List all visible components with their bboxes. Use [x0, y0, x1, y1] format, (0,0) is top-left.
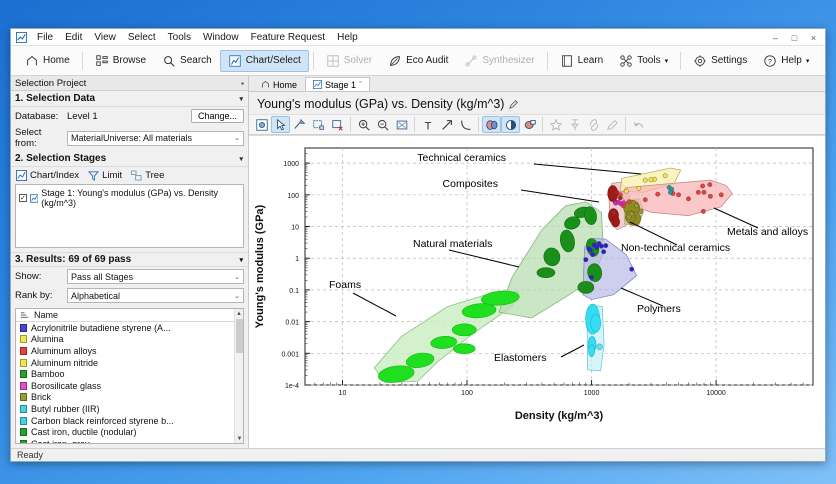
annotation-label: Natural materials — [413, 238, 492, 250]
pointer-icon — [274, 118, 288, 132]
annotation-label: Technical ceramics — [417, 152, 506, 164]
chart-select-icon — [228, 54, 242, 68]
list-item-label: Aluminum nitride — [31, 358, 98, 368]
list-item[interactable]: Aluminum alloys — [16, 345, 243, 357]
data-point-composites[interactable] — [611, 210, 615, 214]
menu-item-help[interactable]: Help — [331, 31, 364, 44]
ribbon-search-label: Search — [180, 55, 212, 66]
data-point-polymers[interactable] — [587, 246, 591, 250]
show-value: Pass all Stages — [71, 272, 133, 282]
box-select-button[interactable] — [309, 116, 328, 133]
ribbon-browse-label: Browse — [113, 55, 146, 66]
elastomer-data-blob[interactable] — [591, 314, 601, 332]
natural-data-blob[interactable] — [578, 281, 594, 293]
menu-item-select[interactable]: Select — [122, 31, 162, 44]
chart-index-button[interactable]: Chart/Index — [16, 170, 79, 181]
chart-toolbar-divider-4 — [542, 117, 543, 132]
list-item-label: Brick — [31, 392, 51, 402]
select-from-dropdown[interactable]: MaterialUniverse: All materials ⌄ — [67, 131, 244, 146]
section3-label: 3. Results: 69 of 69 pass — [15, 254, 131, 265]
data-point-non-technical-ceramics[interactable] — [627, 215, 631, 219]
line-select-icon — [293, 118, 307, 132]
rank-dropdown[interactable]: Alphabetical ⌄ — [67, 288, 244, 303]
box-select-icon — [312, 118, 326, 132]
svg-text:T: T — [424, 120, 431, 132]
help-icon: ? — [763, 54, 777, 68]
data-point-polymers[interactable] — [590, 252, 594, 256]
menu-item-edit[interactable]: Edit — [59, 31, 88, 44]
rank-label: Rank by: — [15, 290, 63, 301]
zoom-out-icon — [376, 118, 390, 132]
data-point-metals-and-alloys[interactable] — [656, 192, 660, 196]
undo-icon — [632, 118, 646, 132]
data-point-polymers[interactable] — [629, 267, 633, 271]
data-point-metals-and-alloys[interactable] — [708, 194, 712, 198]
ribbon-synthesizer-label: Synthesizer — [482, 55, 534, 66]
chart-toolbar-divider-3 — [478, 117, 479, 132]
ribbon-learn-label: Learn — [578, 55, 604, 66]
data-point-metals-and-alloys[interactable] — [702, 190, 706, 194]
list-item[interactable]: Carbon black reinforced styrene b... — [16, 415, 243, 427]
y-tick-label: 0.1 — [289, 288, 299, 295]
stage-list-item[interactable]: ✓ Stage 1: Young's modulus (GPa) vs. Den… — [19, 188, 240, 208]
chevron-down-icon-rank: ⌄ — [234, 292, 240, 300]
edit-pencil-button[interactable] — [603, 116, 622, 133]
undo-button[interactable] — [629, 116, 648, 133]
data-point-titanium[interactable] — [668, 190, 672, 194]
x-axis-label: Density (kg/m^3) — [515, 410, 604, 422]
text-tool-button[interactable]: T — [418, 116, 437, 133]
data-point-polymers[interactable] — [599, 244, 603, 248]
material-color-swatch — [20, 382, 27, 390]
list-item[interactable]: Acrylonitrile butadiene styrene (A... — [16, 322, 243, 334]
database-row: Database: Level 1 Change... — [11, 107, 248, 125]
synthesizer-icon — [464, 54, 478, 68]
chart-index-label: Chart/Index — [30, 170, 79, 181]
x-tick-label: 100 — [461, 390, 473, 397]
contrast-button[interactable] — [501, 116, 520, 133]
main-body: Selection Project ▪ 1. Selection Data ▾ … — [11, 76, 825, 448]
menu-item-window[interactable]: Window — [197, 31, 245, 44]
list-item[interactable]: Bamboo — [16, 368, 243, 380]
data-point-technical-ceramics[interactable] — [643, 178, 647, 182]
ribbon-solver-label: Solver — [344, 55, 372, 66]
results-list-header: Name — [16, 309, 243, 322]
results-list[interactable]: Name Acrylonitrile butadiene styrene (A.… — [15, 308, 244, 444]
change-database-button[interactable]: Change... — [191, 109, 244, 123]
zoom-in-button[interactable] — [354, 116, 373, 133]
curve-tool-icon — [459, 118, 473, 132]
limit-label: Limit — [102, 170, 122, 181]
show-row: Show: Pass all Stages ⌄ — [11, 267, 248, 286]
show-dropdown[interactable]: Pass all Stages ⌄ — [67, 269, 244, 284]
annotation-label: Metals and alloys — [727, 226, 808, 238]
chart-title-text: Young's modulus (GPa) vs. Density (kg/m^… — [257, 97, 504, 111]
data-point-metals-and-alloys[interactable] — [627, 200, 631, 204]
gear-icon — [693, 54, 707, 68]
ribbon-eco-audit-button[interactable]: Eco Audit — [380, 50, 456, 72]
ribbon-divider-2 — [313, 52, 314, 70]
tree-icon — [131, 170, 142, 181]
stage-list: ✓ Stage 1: Young's modulus (GPa) vs. Den… — [15, 184, 244, 248]
ribbon-chart-select-label: Chart/Select — [246, 55, 301, 66]
x-tick-label: 10 — [339, 390, 347, 397]
arrow-tool-button[interactable] — [437, 116, 456, 133]
tab-stage-1-label: Stage 1 — [325, 80, 356, 90]
list-item-label: Acrylonitrile butadiene styrene (A... — [31, 323, 171, 333]
star-button[interactable] — [546, 116, 565, 133]
data-point-polymers[interactable] — [589, 275, 593, 279]
ribbon-home-label: Home — [43, 55, 70, 66]
annotation-label: Elastomers — [494, 352, 547, 364]
chart-props-icon — [255, 118, 269, 132]
ribbon-settings-button[interactable]: Settings — [685, 50, 755, 72]
select-from-label: Select from: — [15, 127, 63, 149]
ribbon-help-button[interactable]: ? Help ▾ — [755, 50, 817, 72]
data-point-non-technical-ceramics[interactable] — [634, 204, 638, 208]
elastomer-data-point[interactable] — [597, 344, 603, 350]
list-item[interactable]: Borosilicate glass — [16, 380, 243, 392]
y-tick-label: 100 — [287, 193, 299, 200]
menu-item-view[interactable]: View — [88, 31, 122, 44]
annotation-label: Foams — [329, 279, 361, 291]
data-point-metals-and-alloys[interactable] — [676, 193, 680, 197]
ribbon-divider-3 — [547, 52, 548, 70]
family-envelope-icon — [485, 118, 499, 132]
tab-home[interactable]: Home — [253, 77, 305, 91]
select-from-value: MaterialUniverse: All materials — [71, 133, 192, 143]
y-tick-label: 1000 — [283, 161, 299, 168]
pin-icon[interactable]: ▪ — [241, 79, 244, 88]
list-item-label: Borosilicate glass — [31, 381, 101, 391]
tab-stage-1-suffix: ° — [359, 81, 362, 88]
home-icon — [25, 54, 39, 68]
material-color-swatch — [20, 359, 27, 367]
tree-button[interactable]: Tree — [131, 170, 164, 181]
list-item[interactable]: Cast iron, ductile (nodular) — [16, 426, 243, 438]
annotation-label: Composites — [443, 178, 498, 190]
results-scrollbar[interactable]: ▲ ▼ — [234, 309, 243, 443]
star-icon — [549, 118, 563, 132]
menu-item-tools[interactable]: Tools — [162, 31, 197, 44]
data-point-polymers[interactable] — [595, 245, 599, 249]
ribbon-search-button[interactable]: Search — [154, 50, 220, 72]
results-column-name: Name — [34, 310, 58, 320]
list-item[interactable]: Aluminum nitride — [16, 357, 243, 369]
section1-label: 1. Selection Data — [15, 93, 95, 104]
stage-label: Stage 1: Young's modulus (GPa) vs. Densi… — [41, 188, 240, 208]
section-results-header[interactable]: 3. Results: 69 of 69 pass ▾ — [11, 252, 248, 267]
link-icon — [587, 118, 601, 132]
select-from-row: Select from: MaterialUniverse: All mater… — [11, 125, 248, 151]
app-logo-icon — [15, 31, 28, 43]
chart-svg[interactable]: 10001001010.10.010.0011e-410100100010000… — [249, 136, 825, 429]
ribbon-solver-button[interactable]: Solver — [318, 50, 380, 72]
ribbon-tools-label: Tools — [637, 55, 660, 66]
list-item-label: Alumina — [31, 334, 64, 344]
browse-icon — [95, 54, 109, 68]
chart-toolbar-divider-5 — [625, 117, 626, 132]
material-color-swatch — [20, 428, 27, 436]
data-point-polymers[interactable] — [604, 243, 608, 247]
label-icon — [523, 118, 537, 132]
database-value: Level 1 — [67, 111, 187, 122]
section2-label: 2. Selection Stages — [15, 153, 106, 164]
line-select-button[interactable] — [290, 116, 309, 133]
list-item[interactable]: Cast iron, gray — [16, 438, 243, 444]
chart-index-icon — [16, 170, 27, 181]
chart-toolbar: T — [249, 114, 825, 135]
material-color-swatch — [20, 370, 27, 378]
list-item-label: Cast iron, gray — [31, 439, 90, 444]
home-tab-icon — [261, 80, 270, 89]
composite-data-blob[interactable] — [612, 217, 620, 227]
section-selection-data-header[interactable]: 1. Selection Data ▾ — [11, 91, 248, 107]
box-delete-icon — [331, 118, 345, 132]
selection-project-pane: Selection Project ▪ 1. Selection Data ▾ … — [11, 76, 249, 448]
chart-title: Young's modulus (GPa) vs. Density (kg/m^… — [249, 92, 825, 114]
ribbon-divider-1 — [82, 52, 83, 70]
data-point-metals-and-alloys[interactable] — [700, 184, 704, 188]
zoom-out-button[interactable] — [373, 116, 392, 133]
material-color-swatch — [20, 347, 27, 355]
annotation-label: Non-technical ceramics — [621, 242, 730, 254]
sort-icon — [20, 311, 29, 320]
label-button[interactable] — [520, 116, 539, 133]
data-point-technical-ceramics[interactable] — [624, 189, 628, 193]
edit-icon[interactable] — [509, 99, 519, 109]
tab-home-label: Home — [273, 80, 297, 90]
chart-icon — [30, 194, 38, 203]
pin-tool-button[interactable] — [565, 116, 584, 133]
data-point-non-technical-ceramics[interactable] — [639, 209, 643, 213]
chevron-down-icon-help[interactable]: ▾ — [806, 57, 810, 65]
zoom-fit-icon — [395, 118, 409, 132]
rank-row: Rank by: Alphabetical ⌄ — [11, 286, 248, 305]
tab-stage-1[interactable]: Stage 1 ° — [305, 77, 370, 91]
data-point-metals-and-alloys[interactable] — [701, 209, 705, 213]
list-item-label: Aluminum alloys — [31, 346, 97, 356]
data-point-polymers[interactable] — [584, 257, 588, 261]
material-color-swatch — [20, 335, 27, 343]
pane-title-bar: Selection Project ▪ — [11, 76, 248, 91]
ribbon-divider-4 — [680, 52, 681, 70]
ribbon-home-button[interactable]: Home — [17, 50, 78, 72]
material-color-swatch — [20, 417, 27, 425]
foam-data-blob[interactable] — [452, 324, 476, 336]
ribbon-learn-button[interactable]: Learn — [552, 50, 612, 72]
chevron-down-icon-s2[interactable]: ▾ — [239, 155, 243, 163]
chevron-down-icon-s3[interactable]: ▾ — [239, 256, 243, 264]
status-text: Ready — [17, 450, 43, 460]
ribbon-eco-audit-label: Eco Audit — [406, 55, 448, 66]
y-tick-label: 1 — [295, 256, 299, 263]
menu-bar: File Edit View Select Tools Window Featu… — [11, 29, 825, 46]
chart-toolbar-divider-1 — [350, 117, 351, 132]
chevron-down-icon-s1[interactable]: ▾ — [239, 95, 243, 103]
rank-value: Alphabetical — [71, 291, 120, 301]
pin-tool-icon — [568, 118, 582, 132]
tools-icon — [619, 54, 633, 68]
material-color-swatch — [20, 405, 27, 413]
x-tick-label: 1000 — [584, 390, 600, 397]
y-axis-label: Young's modulus (GPa) — [254, 204, 266, 328]
scroll-down-button[interactable]: ▼ — [235, 434, 244, 443]
book-icon — [560, 54, 574, 68]
foam-data-blob[interactable] — [453, 344, 475, 354]
svg-text:?: ? — [768, 58, 772, 65]
data-point-metals-and-alloys[interactable] — [719, 193, 723, 197]
data-point-polymers[interactable] — [601, 250, 605, 254]
menu-item-feature-request[interactable]: Feature Request — [245, 31, 332, 44]
tree-label: Tree — [145, 170, 164, 181]
list-item-label: Bamboo — [31, 369, 65, 379]
list-item-label: Cast iron, ductile (nodular) — [31, 427, 137, 437]
database-label: Database: — [15, 111, 63, 122]
solver-icon — [326, 54, 340, 68]
list-item[interactable]: Brick — [16, 392, 243, 404]
box-delete-button[interactable] — [328, 116, 347, 133]
data-point-technical-ceramics[interactable] — [663, 174, 667, 178]
natural-data-blob[interactable] — [537, 268, 555, 278]
desktop-background: File Edit View Select Tools Window Featu… — [0, 0, 836, 484]
zoom-in-icon — [357, 118, 371, 132]
arrow-tool-icon — [440, 118, 454, 132]
chart-pane: Home Stage 1 ° Young's modulus (GPa) vs.… — [249, 76, 825, 448]
y-tick-label: 10 — [291, 225, 299, 232]
annotation-label: Polymers — [637, 303, 681, 315]
tab-strip: Home Stage 1 ° — [249, 76, 825, 92]
list-item-label: Butyl rubber (IIR) — [31, 404, 100, 414]
scroll-thumb[interactable] — [236, 319, 243, 353]
ribbon-toolbar: Home Browse Search Chart/Select Solver — [11, 46, 825, 76]
ribbon-chart-select-button[interactable]: Chart/Select — [220, 50, 309, 72]
menu-item-file[interactable]: File — [31, 31, 59, 44]
show-label: Show: — [15, 271, 63, 282]
search-icon — [162, 54, 176, 68]
material-color-swatch — [20, 440, 27, 444]
chevron-down-icon-show: ⌄ — [234, 273, 240, 281]
stage-tools-bar: Chart/Index Limit Tree — [11, 167, 248, 184]
y-tick-label: 1e-4 — [285, 383, 299, 390]
zoom-fit-button[interactable] — [392, 116, 411, 133]
data-point-glass[interactable] — [621, 201, 625, 205]
material-color-swatch — [20, 324, 27, 332]
ribbon-browse-button[interactable]: Browse — [87, 50, 154, 72]
data-point-metals-and-alloys[interactable] — [696, 190, 700, 194]
elastomer-data-blob[interactable] — [589, 345, 595, 357]
ribbon-settings-label: Settings — [711, 55, 747, 66]
ribbon-tools-button[interactable]: Tools ▾ — [611, 50, 676, 72]
section-selection-stages-header[interactable]: 2. Selection Stages ▾ — [11, 151, 248, 167]
status-bar: Ready — [11, 448, 825, 461]
y-tick-label: 0.01 — [285, 320, 299, 327]
window-controls: – □ × — [766, 29, 823, 46]
ribbon-help-label: Help — [781, 55, 802, 66]
close-button[interactable]: × — [804, 30, 823, 45]
material-color-swatch — [20, 393, 27, 401]
funnel-icon — [88, 170, 99, 181]
chevron-down-icon[interactable]: ▾ — [665, 57, 669, 65]
leaf-icon — [388, 54, 402, 68]
chart-tab-icon — [313, 80, 322, 89]
curve-tool-button[interactable] — [456, 116, 475, 133]
data-point-technical-ceramics[interactable] — [637, 186, 641, 190]
results-items-container: Acrylonitrile butadiene styrene (A...Alu… — [16, 322, 243, 444]
chart-canvas[interactable]: 10001001010.10.010.0011e-410100100010000… — [249, 135, 825, 448]
edit-pencil-icon — [606, 118, 620, 132]
link-button[interactable] — [584, 116, 603, 133]
chart-props-button[interactable] — [252, 116, 271, 133]
data-point-composites[interactable] — [615, 190, 619, 194]
data-point-composites[interactable] — [618, 196, 622, 200]
data-point-metals-and-alloys[interactable] — [708, 182, 712, 186]
pointer-button[interactable] — [271, 116, 290, 133]
maximize-button[interactable]: □ — [785, 30, 804, 45]
stage-checkbox[interactable]: ✓ — [19, 194, 27, 202]
data-point-metals-and-alloys[interactable] — [686, 197, 690, 201]
minimize-button[interactable]: – — [766, 30, 785, 45]
data-point-technical-ceramics[interactable] — [649, 177, 653, 181]
text-tool-icon: T — [421, 118, 435, 132]
list-item-label: Carbon black reinforced styrene b... — [31, 416, 174, 426]
application-window: File Edit View Select Tools Window Featu… — [10, 28, 826, 462]
data-point-metals-and-alloys[interactable] — [643, 198, 647, 202]
chevron-down-icon-selectfrom: ⌄ — [234, 134, 240, 142]
chart-toolbar-divider-2 — [414, 117, 415, 132]
list-item[interactable]: Alumina — [16, 334, 243, 346]
contrast-icon — [504, 118, 518, 132]
pane-title-label: Selection Project — [15, 78, 86, 89]
ribbon-synthesizer-button[interactable]: Synthesizer — [456, 50, 542, 72]
undo-dropdown[interactable] — [648, 116, 658, 133]
y-tick-label: 0.001 — [281, 351, 299, 358]
family-envelope-button[interactable] — [482, 116, 501, 133]
limit-button[interactable]: Limit — [88, 170, 122, 181]
x-tick-label: 10000 — [706, 390, 726, 397]
list-item[interactable]: Butyl rubber (IIR) — [16, 403, 243, 415]
scroll-up-button[interactable]: ▲ — [235, 309, 243, 318]
